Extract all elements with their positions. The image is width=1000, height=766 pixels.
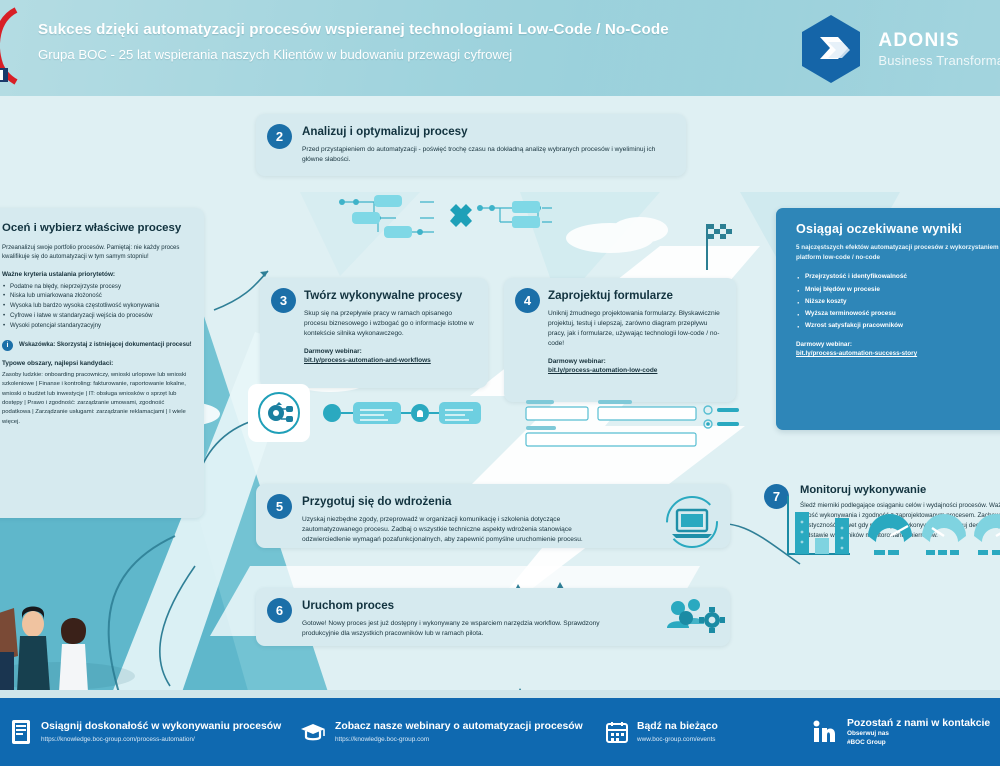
footer-item-linkedin[interactable]: Pozostań z nami w kontakcie Obserwuj nas… [812,717,990,747]
list-item: Podatne na błędy, nieprzejrzyste procesy [2,282,192,292]
adonis-name: ADONIS [878,30,1000,52]
step-1-tip: i Wskazówka: Skorzystaj z istniejącej do… [2,340,192,351]
calendar-icon [606,721,628,743]
workflow-builder-icon [248,378,488,448]
step-2-card: 2 Analizuj i optymalizuj procesy Przed p… [256,114,686,176]
adonis-tagline: Business Transformation [878,53,1000,68]
results-list: Przejrzystość i identyfikowalność Mniej … [796,271,1000,332]
footer-bar: Osiągnij doskonałość w wykonywaniu proce… [0,698,1000,766]
form-designer-icon [520,396,740,462]
list-item: Niższe koszty [796,296,1000,308]
step-1-tip-text: Wskazówka: Skorzystaj z istniejącej doku… [19,340,192,349]
footer-divider [0,690,1000,698]
main-stage: Oceń i wybierz właściwe procesy Przeanal… [0,96,1000,698]
footer-url-2[interactable]: https://knowledge.boc-group.com [335,736,583,744]
list-item: Wyższa terminowość procesu [796,308,1000,320]
team-gear-icon [664,596,728,642]
step-5-card: 5 Przygotuj się do wdrożenia Uzyskaj nie… [256,484,730,548]
book-icon [10,719,32,745]
results-webinar-link[interactable]: bit.ly/process-automation-success-story [796,350,1000,357]
adonis-hex-logo-icon [798,14,864,84]
step-1-criteria-heading: Ważne kryteria ustalania priorytetów: [2,271,192,278]
list-item: Niska lub umiarkowana złożoność [2,291,192,301]
step-4-body: Uniknij żmudnego projektowania formularz… [548,309,724,349]
step-1-title: Oceń i wybierz właściwe procesy [2,222,192,236]
graduation-cap-icon [300,722,326,742]
step-6-card: 6 Uruchom proces Gotowe! Nowy proces jes… [256,588,730,646]
infographic-poster: Sukces dzięki automatyzacji procesów wsp… [0,0,1000,766]
step-1-candidates-text: Zasoby ludzkie: onboarding pracowniczy, … [2,371,192,427]
footer-item-excellence[interactable]: Osiągnij doskonałość w wykonywaniu proce… [10,719,292,745]
info-icon: i [2,340,13,351]
footer-title-1: Osiągnij doskonałość w wykonywaniu proce… [41,720,281,733]
step-1-panel: Oceń i wybierz właściwe procesy Przeanal… [0,208,204,518]
results-webinar-label: Darmowy webinar: [796,341,1000,348]
step-6-body: Gotowe! Nowy proces jest już dostępny i … [302,619,610,639]
footer-item-webinars[interactable]: Zobacz nasze webinary o automatyzacji pr… [300,720,600,744]
poster-title: Sukces dzięki automatyzacji procesów wsp… [38,20,738,39]
adonis-wordmark: ADONIS Business Transformation [878,30,1000,68]
footer-handle[interactable]: #BOC Group [847,739,990,748]
footer-url-3[interactable]: www.boc-group.com/events [637,736,718,744]
step-4-title: Zaprojektuj formularze [548,289,724,303]
monitoring-charts-icon [782,492,1000,568]
footer-title-2: Zobacz nasze webinary o automatyzacji pr… [335,720,583,733]
list-item: Przejrzystość i identyfikowalność [796,271,1000,283]
header-titles: Sukces dzięki automatyzacji procesów wsp… [38,20,738,63]
step-5-title: Przygotuj się do wdrożenia [302,495,610,509]
step-3-webinar-link[interactable]: bit.ly/process-automation-and-workflows [304,357,476,364]
step-5-body: Uzyskaj niezbędne zgody, przeprowadź w o… [302,515,610,545]
step-2-number: 2 [267,124,292,149]
step-4-card: 4 Zaprojektuj formularze Uniknij żmudneg… [504,278,736,402]
deployment-laptop-icon [660,494,724,550]
step-1-criteria-list: Podatne na błędy, nieprzejrzyste procesy… [2,282,192,331]
footer-title-4: Pozostań z nami w kontakcie [847,717,990,730]
list-item: Mniej błędów w procesie [796,284,1000,296]
results-subtitle: 5 najczęstszych efektów automatyzacji pr… [796,243,1000,263]
step-6-title: Uruchom proces [302,599,610,613]
step-2-body: Przed przystąpieniem do automatyzacji - … [302,145,672,165]
step-4-webinar-label: Darmowy webinar: [548,358,724,365]
linkedin-icon [812,720,838,744]
boc-logo [0,6,28,86]
step-4-webinar-link[interactable]: bit.ly/process-automation-low-code [548,367,724,374]
step-1-intro: Przeanalizuj swoje portfolio procesów. P… [2,243,192,262]
footer-url-1[interactable]: https://knowledge.boc-group.com/process-… [41,736,281,744]
step-2-title: Analizuj i optymalizuj procesy [302,125,672,139]
gauge-icon-1 [868,514,912,555]
list-item: Wysoka lub bardzo wysoka częstotliwość w… [2,301,192,311]
bar-chart-icon [788,496,850,554]
poster-subtitle: Grupa BOC - 25 lat wspierania naszych Kl… [38,46,738,63]
step-3-number: 3 [271,288,296,313]
adonis-brand: ADONIS Business Transformation [798,14,1000,84]
list-item: Cyfrowe i łatwe w standaryzacji wejścia … [2,311,192,321]
results-panel: Osiągaj oczekiwane wyniki 5 najczęstszyc… [776,208,1000,430]
gauge-icon-3 [974,514,1000,555]
footer-item-events[interactable]: Bądź na bieżąco www.boc-group.com/events [606,720,806,744]
step-4-number: 4 [515,288,540,313]
footer-title-3: Bądź na bieżąco [637,720,718,733]
step-3-card: 3 Twórz wykonywalne procesy Skup się na … [260,278,488,388]
list-item: Wysoki potencjał standaryzacyjny [2,321,192,331]
footer-follow-label: Obserwuj nas [847,730,990,739]
step-1-candidates-heading: Typowe obszary, najlepsi kandydaci: [2,360,192,367]
header-bar: Sukces dzięki automatyzacji procesów wsp… [0,0,1000,96]
process-diagram-icon [334,188,558,250]
step-3-title: Twórz wykonywalne procesy [304,289,476,303]
gauge-icon-2 [922,514,966,555]
step-3-body: Skup się na przepływie pracy w ramach op… [304,309,476,339]
step-5-number: 5 [267,494,292,519]
step-6-number: 6 [267,598,292,623]
results-title: Osiągaj oczekiwane wyniki [796,222,1000,236]
list-item: Wzrost satysfakcji pracowników [796,320,1000,332]
step-3-webinar-label: Darmowy webinar: [304,348,476,355]
